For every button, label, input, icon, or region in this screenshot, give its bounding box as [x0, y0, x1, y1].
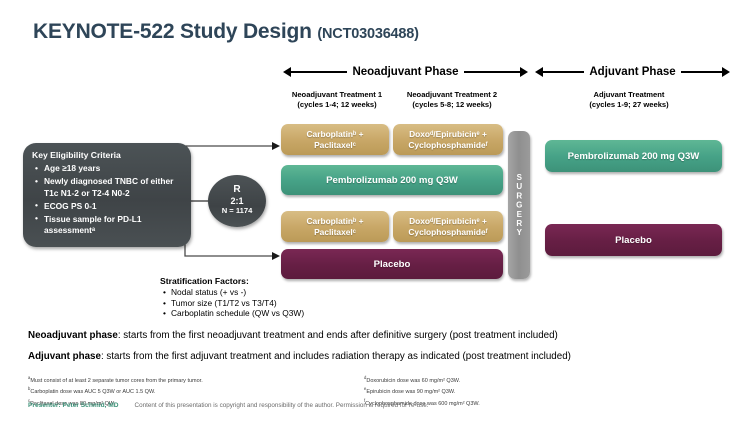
surgery-column: SURGERY	[508, 131, 530, 279]
neoadjuvant-phase-desc-text: : starts from the first neoadjuvant trea…	[118, 330, 558, 341]
arm-pembro-neoadjuvant: Pembrolizumab 200 mg Q3W	[281, 165, 503, 195]
arm-placebo-neoadjuvant-chemo-1: Carboplatinᵇ + Paclitaxelᶜ	[281, 211, 389, 242]
neoadjuvant-phase-arrow: Neoadjuvant Phase	[283, 63, 528, 81]
arm-placebo-neoadjuvant: Placebo	[281, 249, 503, 279]
adjuvant-phase-arrow: Adjuvant Phase	[535, 63, 730, 81]
stratification-factors: Stratification Factors: Nodal status (+ …	[160, 276, 304, 319]
arrow-head-right-icon	[722, 67, 730, 77]
neoadjuvant-phase-label: Neoadjuvant Phase	[347, 66, 463, 78]
arrow-line	[681, 71, 722, 73]
column-header-neoadjuvant-treatment-1: Neoadjuvant Treatment 1 (cycles 1-4; 12 …	[277, 90, 397, 110]
randomization-node: R 2:1 N = 1174	[208, 175, 266, 227]
list-item: ECOG PS 0-1	[44, 201, 183, 213]
arrow-line	[543, 71, 584, 73]
column-header-neoadjuvant-treatment-2: Neoadjuvant Treatment 2 (cycles 5-8; 12 …	[392, 90, 512, 110]
arrow-head-left-icon	[535, 67, 543, 77]
list-item: Nodal status (+ vs -)	[171, 287, 304, 298]
randomization-ratio: 2:1	[230, 196, 243, 207]
col-head-line1: Adjuvant Treatment	[559, 90, 699, 100]
footnote-item: dDoxorubicin dose was 60 mg/m² Q3W.	[364, 374, 694, 385]
randomization-sample-size: N = 1174	[222, 206, 253, 217]
title-nct-number: (NCT03036488)	[317, 26, 418, 42]
adjuvant-phase-desc-text: : starts from the first adjuvant treatme…	[101, 351, 571, 362]
col-head-line2: (cycles 1-9; 27 weeks)	[559, 100, 699, 110]
arm-pembro-adjuvant: Pembrolizumab 200 mg Q3W	[545, 140, 722, 172]
list-item: Age ≥18 years	[44, 163, 183, 175]
col-head-line2: (cycles 1-4; 12 weeks)	[277, 100, 397, 110]
col-head-line1: Neoadjuvant Treatment 2	[392, 90, 512, 100]
list-item: Carboplatin schedule (QW vs Q3W)	[171, 308, 304, 319]
arm-pembro-neoadjuvant-chemo-2: Doxoᵈ/Epirubicinᵉ + Cyclophosphamideᶠ	[393, 124, 503, 155]
neoadjuvant-phase-description: Neoadjuvant phase: starts from the first…	[28, 330, 558, 341]
adjuvant-phase-desc-label: Adjuvant phase	[28, 351, 101, 362]
footnote-item: aMust consist of at least 2 separate tum…	[28, 374, 358, 385]
footnote-item: eEpirubicin dose was 90 mg/m² Q3W.	[364, 385, 694, 396]
stratification-heading: Stratification Factors:	[160, 276, 304, 286]
randomization-letter: R	[233, 185, 240, 196]
adjuvant-phase-description: Adjuvant phase: starts from the first ad…	[28, 351, 571, 362]
copyright-notice: Content of this presentation is copyrigh…	[135, 402, 429, 409]
arm-pembro-neoadjuvant-chemo-1: Carboplatinᵇ + Paclitaxelᶜ	[281, 124, 389, 155]
presenter-name: Presenter: Peter Schmid, MD	[28, 402, 119, 409]
column-header-adjuvant-treatment: Adjuvant Treatment (cycles 1-9; 27 weeks…	[559, 90, 699, 110]
stratification-list: Nodal status (+ vs -) Tumor size (T1/T2 …	[160, 287, 304, 319]
page-title: KEYNOTE-522 Study Design (NCT03036488)	[33, 20, 419, 44]
presenter-row: Presenter: Peter Schmid, MD Content of t…	[28, 402, 728, 409]
list-item: Newly diagnosed TNBC of either T1c N1-2 …	[44, 176, 183, 199]
footnote-text: Must consist of at least 2 separate tumo…	[30, 378, 202, 384]
bottom-spacer	[0, 417, 752, 423]
footnote-text: Carboplatin dose was AUC 5 Q3W or AUC 1.…	[30, 389, 155, 395]
footnote-text: Epirubicin dose was 90 mg/m² Q3W.	[366, 389, 455, 395]
eligibility-list: Age ≥18 years Newly diagnosed TNBC of ei…	[32, 163, 183, 237]
surgery-label: SURGERY	[513, 173, 525, 237]
list-item: Tissue sample for PD-L1 assessmentᵃ	[44, 214, 183, 237]
arrow-line	[291, 71, 347, 73]
arrow-line	[464, 71, 520, 73]
footnote-text: Doxorubicin dose was 60 mg/m² Q3W.	[366, 378, 460, 384]
footnote-item: bCarboplatin dose was AUC 5 Q3W or AUC 1…	[28, 385, 358, 396]
neoadjuvant-phase-desc-label: Neoadjuvant phase	[28, 330, 118, 341]
title-main: KEYNOTE-522 Study Design	[33, 20, 312, 43]
list-item: Tumor size (T1/T2 vs T3/T4)	[171, 298, 304, 309]
eligibility-criteria-box: Key Eligibility Criteria Age ≥18 years N…	[23, 143, 191, 247]
eligibility-heading: Key Eligibility Criteria	[32, 150, 183, 160]
arrow-head-left-icon	[283, 67, 291, 77]
col-head-line1: Neoadjuvant Treatment 1	[277, 90, 397, 100]
arm-placebo-neoadjuvant-chemo-2: Doxoᵈ/Epirubicinᵉ + Cyclophosphamideᶠ	[393, 211, 503, 242]
arm-placebo-adjuvant: Placebo	[545, 224, 722, 256]
col-head-line2: (cycles 5-8; 12 weeks)	[392, 100, 512, 110]
slide-canvas: KEYNOTE-522 Study Design (NCT03036488) N…	[0, 0, 752, 423]
adjuvant-phase-label: Adjuvant Phase	[584, 66, 680, 78]
arrow-head-right-icon	[520, 67, 528, 77]
